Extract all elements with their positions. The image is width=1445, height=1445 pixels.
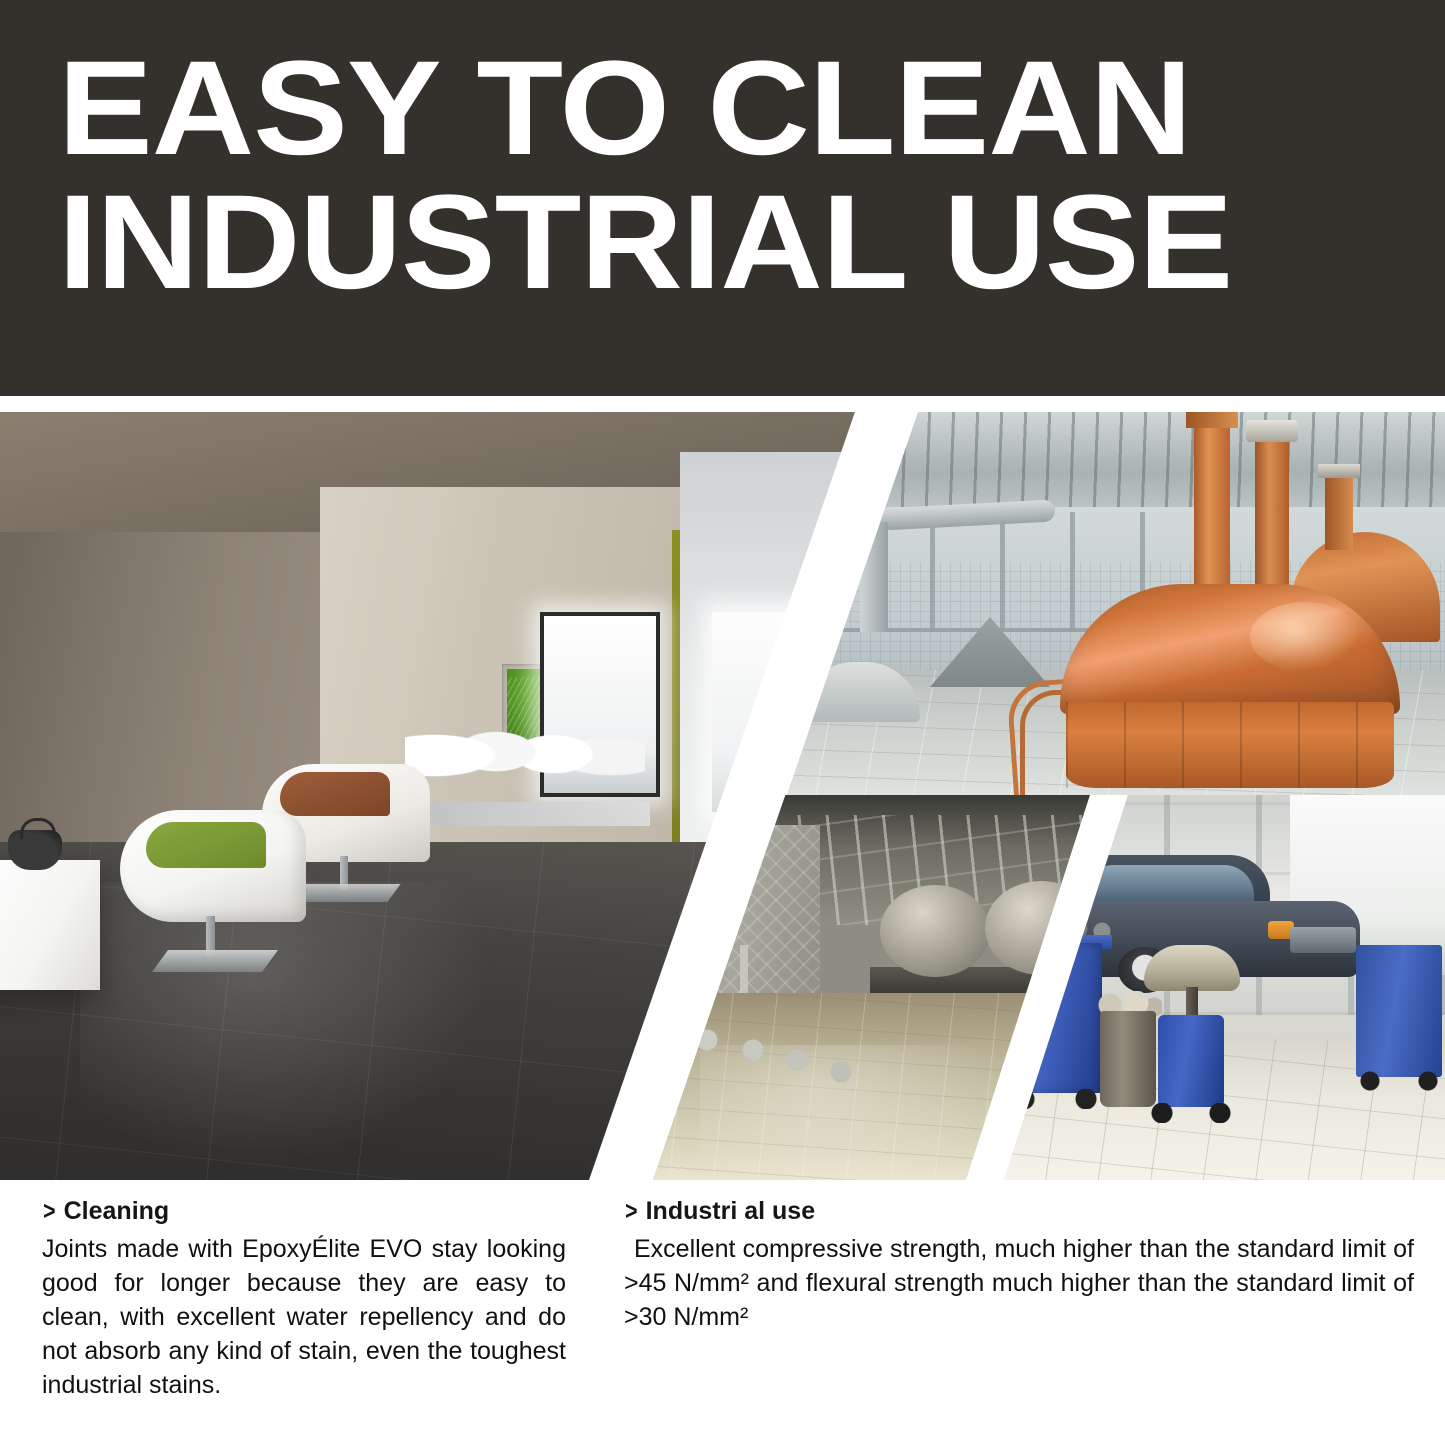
chair-base-plate — [152, 950, 278, 972]
interior-white-cube-table — [0, 860, 100, 990]
brewery-chimney-3-cap — [1318, 464, 1360, 478]
garage-cart-right-casters — [1358, 1071, 1444, 1091]
teapot-icon — [8, 830, 62, 870]
brewery-chimney-1 — [1194, 412, 1230, 602]
garage-cart-left-casters — [1012, 1089, 1102, 1109]
extractor-funnel — [1144, 945, 1240, 991]
caption-cleaning-body: Joints made with EpoxyÉlite EVO stay loo… — [42, 1232, 566, 1402]
caption-area: >Cleaning Joints made with EpoxyÉlite EV… — [0, 1196, 1445, 1445]
kettle-body — [1066, 702, 1394, 788]
caption-cleaning-heading-label: Cleaning — [64, 1197, 170, 1225]
kettle-dome — [1060, 584, 1400, 714]
extractor-casters — [1150, 1103, 1234, 1123]
garage-oil-extractor — [1160, 945, 1224, 1105]
tanks-valves — [645, 1010, 945, 1120]
car-grille — [1290, 927, 1356, 953]
caption-industrial-use: >Industri al use Excellent compressive s… — [624, 1196, 1414, 1334]
garage-waste-drum — [1100, 1011, 1156, 1107]
caption-industrial-heading: >Industri al use — [624, 1196, 1414, 1226]
product-feature-sheet: EASY TO CLEAN INDUSTRIAL USE — [0, 0, 1445, 1445]
chair-base-plate — [291, 884, 400, 902]
chevron-right-icon: > — [43, 1195, 55, 1227]
interior-seat-plinth — [400, 802, 650, 826]
brewery-chimney-2 — [1255, 422, 1289, 602]
page-title: EASY TO CLEAN INDUSTRIAL USE — [58, 42, 1445, 310]
car-windscreen — [1094, 865, 1254, 901]
header-banner: EASY TO CLEAN INDUSTRIAL USE — [0, 0, 1445, 396]
chevron-right-icon: > — [625, 1195, 637, 1227]
brewery-chimney-2-cap — [1246, 420, 1298, 442]
caption-industrial-heading-label: Industri al use — [646, 1197, 815, 1225]
photo-collage — [0, 412, 1445, 1180]
brewery-duct-vertical — [860, 522, 888, 632]
brewery-chimney-3 — [1325, 470, 1353, 550]
brewery-chimney-1-cap — [1186, 412, 1238, 428]
caption-cleaning-heading: >Cleaning — [42, 1196, 566, 1226]
caption-industrial-body: Excellent compressive strength, much hig… — [624, 1232, 1414, 1334]
brewery-copper-kettle — [1060, 584, 1400, 784]
caption-cleaning: >Cleaning Joints made with EpoxyÉlite EV… — [42, 1196, 566, 1402]
interior-chair-front — [120, 810, 306, 970]
chair-seat-pad — [146, 822, 266, 868]
garage-tool-cart-right — [1356, 945, 1442, 1077]
extractor-tank — [1158, 1015, 1224, 1107]
